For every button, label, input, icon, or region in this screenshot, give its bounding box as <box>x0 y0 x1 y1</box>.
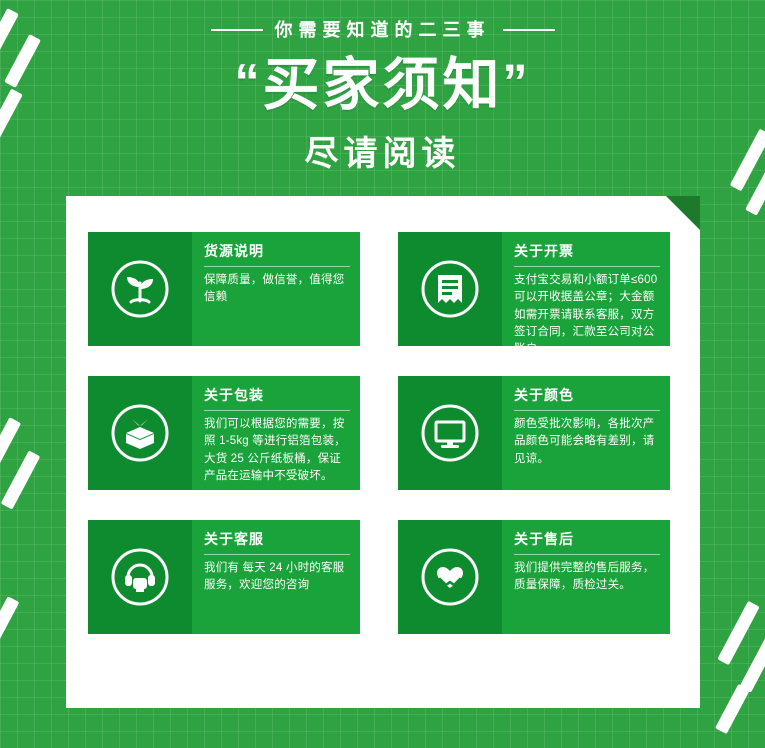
open-quote: “ <box>235 54 263 110</box>
notice-item-title: 关于客服 <box>204 529 350 555</box>
page-title: “买家须知” <box>0 56 765 116</box>
notice-item-source: 货源说明 保障质量，做信誉，值得您信赖 <box>88 232 360 346</box>
notice-item-title: 关于颜色 <box>514 385 660 411</box>
notice-item-body: 关于售后 我们提供完整的售后服务，质量保障，质检过关。 <box>502 520 670 634</box>
notice-item-title: 关于开票 <box>514 241 660 267</box>
notice-item-invoice: 关于开票 支付宝交易和小额订单≤600可以开收据盖公章；大金额如需开票请联系客服… <box>398 232 670 346</box>
page-subtitle: 尽请阅读 <box>0 126 765 175</box>
corner-fold <box>666 196 700 230</box>
notice-item-support: 关于客服 我们有 每天 24 小时的客服服务，欢迎您的咨询 <box>88 520 360 634</box>
eyebrow-text: 你需要知道的二三事 <box>211 16 555 42</box>
notice-item-text: 颜色受批次影响，各批次产品颜色可能会略有差别，请见谅。 <box>514 416 660 468</box>
handshake-heart-icon <box>398 520 502 634</box>
notice-item-text: 我们可以根据您的需要，按照 1-5kg 等进行铝箔包装，大货 25 公斤纸板桶，… <box>204 416 350 485</box>
notice-item-body: 关于颜色 颜色受批次影响，各批次产品颜色可能会略有差别，请见谅。 <box>502 376 670 490</box>
notice-item-text: 支付宝交易和小额订单≤600可以开收据盖公章；大金额如需开票请联系客服，双方签订… <box>514 272 660 346</box>
close-quote: ” <box>503 54 531 110</box>
poster: 你需要知道的二三事 “买家须知” 尽请阅读 货源说明 保障质量，做信誉，值得您信… <box>0 0 765 748</box>
headset-icon <box>88 520 192 634</box>
page-title-text: 买家须知 <box>263 53 503 117</box>
notice-item-title: 关于包装 <box>204 385 350 411</box>
notice-item-title: 货源说明 <box>204 241 350 267</box>
notice-item-text: 保障质量，做信誉，值得您信赖 <box>204 272 350 307</box>
notice-item-packaging: 关于包装 我们可以根据您的需要，按照 1-5kg 等进行铝箔包装，大货 25 公… <box>88 376 360 490</box>
notice-item-body: 关于包装 我们可以根据您的需要，按照 1-5kg 等进行铝箔包装，大货 25 公… <box>192 376 360 490</box>
notice-item-aftersales: 关于售后 我们提供完整的售后服务，质量保障，质检过关。 <box>398 520 670 634</box>
notice-item-title: 关于售后 <box>514 529 660 555</box>
notice-item-body: 关于客服 我们有 每天 24 小时的客服服务，欢迎您的咨询 <box>192 520 360 634</box>
invoice-icon <box>398 232 502 346</box>
sprout-icon <box>88 232 192 346</box>
notice-grid: 货源说明 保障质量，做信誉，值得您信赖 关于开票 支付宝交易和小额订单≤600可… <box>88 232 680 634</box>
poster-header: 你需要知道的二三事 “买家须知” 尽请阅读 <box>0 0 765 175</box>
box-icon <box>88 376 192 490</box>
notice-item-text: 我们提供完整的售后服务，质量保障，质检过关。 <box>514 560 660 595</box>
notice-item-text: 我们有 每天 24 小时的客服服务，欢迎您的咨询 <box>204 560 350 595</box>
notice-item-color: 关于颜色 颜色受批次影响，各批次产品颜色可能会略有差别，请见谅。 <box>398 376 670 490</box>
notice-item-body: 货源说明 保障质量，做信誉，值得您信赖 <box>192 232 360 346</box>
notice-item-body: 关于开票 支付宝交易和小额订单≤600可以开收据盖公章；大金额如需开票请联系客服… <box>502 232 670 346</box>
monitor-icon <box>398 376 502 490</box>
